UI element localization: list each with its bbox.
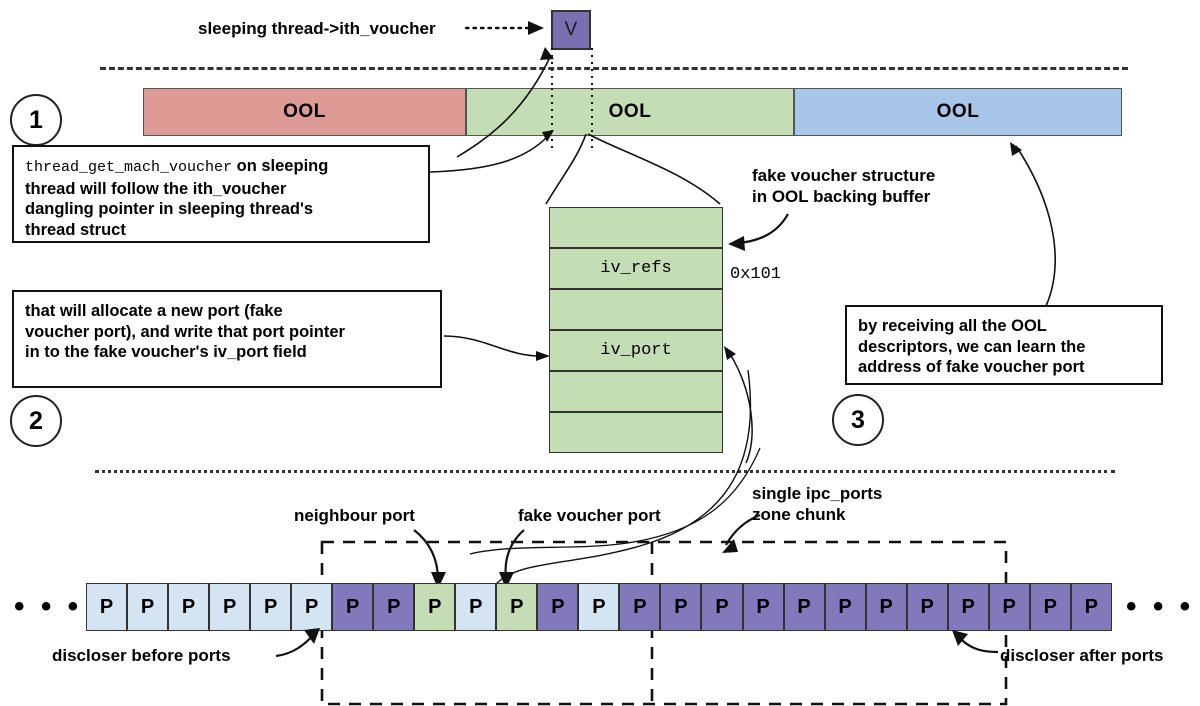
port-cell-label: P	[264, 596, 277, 619]
ool-bar-blue: OOL	[794, 88, 1122, 136]
port-cell-label: P	[100, 596, 113, 619]
port-cell[interactable]: P	[127, 583, 168, 631]
port-cell-label: P	[879, 596, 892, 619]
voucher-row-iv-port: iv_port	[549, 330, 723, 371]
voucher-v-label: V	[565, 19, 578, 41]
callout-1-line1-rest: on sleeping	[232, 157, 328, 175]
port-cell[interactable]: P	[660, 583, 701, 631]
discloser-after-ports-label: discloser after ports	[1000, 645, 1163, 666]
port-cell-neighbour[interactable]: P	[414, 583, 455, 631]
port-cell-label: P	[962, 596, 975, 619]
port-cell[interactable]: P	[866, 583, 907, 631]
callout-2-arrow	[444, 330, 554, 366]
voucher-v-box: V	[551, 10, 591, 50]
port-cell-label: P	[1044, 596, 1057, 619]
step-1-number: 1	[29, 106, 43, 135]
callout-3-line2: descriptors, we can learn the	[858, 337, 1150, 358]
port-cell-label: P	[592, 596, 605, 619]
port-cell-label: P	[551, 596, 564, 619]
port-cell[interactable]: P	[578, 583, 619, 631]
callout-1-line2: thread will follow the ith_voucher	[25, 179, 417, 200]
callout-2-box: that will allocate a new port (fake vouc…	[12, 290, 442, 388]
port-cell-label: P	[305, 596, 318, 619]
single-ipc-ports-line1: single ipc_ports	[752, 483, 882, 504]
port-cell-label: P	[838, 596, 851, 619]
v-box-incoming-arrow	[455, 45, 565, 160]
iv-port-upward-arrow	[724, 340, 764, 465]
ool-bar-green-label: OOL	[609, 101, 652, 123]
top-dashed-divider	[100, 67, 1128, 70]
callout-2-line1: that will allocate a new port (fake	[25, 301, 429, 322]
ool-bar-blue-label: OOL	[937, 101, 980, 123]
port-cell-label: P	[141, 596, 154, 619]
port-cell[interactable]: P	[373, 583, 414, 631]
single-ipc-ports-label: single ipc_ports zone chunk	[752, 483, 882, 525]
port-cell[interactable]: P	[291, 583, 332, 631]
port-cell[interactable]: P	[209, 583, 250, 631]
callout-3-box: by receiving all the OOL descriptors, we…	[845, 305, 1163, 385]
voucher-row-1-label: iv_refs	[600, 259, 671, 278]
port-cell[interactable]: P	[743, 583, 784, 631]
voucher-struct-origin-arrow	[586, 132, 736, 208]
fake-voucher-structure-arrow	[726, 212, 796, 252]
port-cell-fake-voucher[interactable]: P	[496, 583, 537, 631]
callout-2-line2: voucher port), and write that port point…	[25, 322, 429, 343]
port-cell[interactable]: P	[948, 583, 989, 631]
voucher-row-iv-refs: iv_refs	[549, 248, 723, 289]
ith-voucher-pointer-label: sleeping thread->ith_voucher	[198, 18, 436, 39]
ool-bar-red: OOL	[143, 88, 466, 136]
fake-voucher-structure-line1: fake voucher structure	[752, 165, 935, 186]
ool-bar-red-label: OOL	[283, 101, 326, 123]
port-cell-label: P	[674, 596, 687, 619]
port-cell[interactable]: P	[619, 583, 660, 631]
port-cell-label: P	[1085, 596, 1098, 619]
callout-1-line4: thread struct	[25, 220, 417, 241]
callout-1-line3: dangling pointer in sleeping thread's	[25, 199, 417, 220]
port-cell-label: P	[797, 596, 810, 619]
port-cell-label: P	[715, 596, 728, 619]
port-cell[interactable]: P	[907, 583, 948, 631]
callout-2-line3: in to the fake voucher's iv_port field	[25, 342, 429, 363]
fake-voucher-structure-label: fake voucher structure in OOL backing bu…	[752, 165, 935, 207]
ith-voucher-dotted-arrow	[466, 14, 556, 44]
port-cell[interactable]: P	[1030, 583, 1071, 631]
step-2-badge: 2	[10, 395, 62, 447]
port-cell[interactable]: P	[168, 583, 209, 631]
port-cell[interactable]: P	[825, 583, 866, 631]
port-cell[interactable]: P	[455, 583, 496, 631]
discloser-before-ports-label: discloser before ports	[52, 645, 231, 666]
fake-voucher-structure-line2: in OOL backing buffer	[752, 186, 935, 207]
port-cell[interactable]: P	[332, 583, 373, 631]
callout-1-code: thread_get_mach_voucher	[25, 159, 232, 176]
discloser-before-arrow	[276, 628, 326, 664]
port-cell-label: P	[469, 596, 482, 619]
port-cell-label: P	[510, 596, 523, 619]
port-cell-label: P	[920, 596, 933, 619]
port-cell[interactable]: P	[537, 583, 578, 631]
single-ipc-ports-line2: zone chunk	[752, 504, 882, 525]
port-cell[interactable]: P	[701, 583, 742, 631]
step-3-number: 3	[851, 406, 865, 435]
port-cell-label: P	[428, 596, 441, 619]
port-cell-label: P	[182, 596, 195, 619]
port-row: P P P P P P P P P P P P P P P P P P P P …	[86, 583, 1112, 631]
callout-3-line1: by receiving all the OOL	[858, 316, 1150, 337]
voucher-row-3-label: iv_port	[600, 341, 671, 360]
port-cell-label: P	[1003, 596, 1016, 619]
callout-3-line3: address of fake voucher port	[858, 357, 1150, 378]
voucher-row-0	[549, 207, 723, 248]
port-cell-label: P	[387, 596, 400, 619]
port-cell[interactable]: P	[784, 583, 825, 631]
step-1-badge: 1	[10, 94, 62, 146]
step-3-badge: 3	[832, 394, 884, 446]
port-cell-label: P	[756, 596, 769, 619]
discloser-after-arrow	[940, 630, 1002, 662]
step-2-number: 2	[29, 407, 43, 436]
port-cell-label: P	[346, 596, 359, 619]
port-cell-label: P	[223, 596, 236, 619]
callout-3-arrow	[1000, 140, 1070, 308]
port-cell[interactable]: P	[250, 583, 291, 631]
iv-refs-value: 0x101	[730, 265, 781, 284]
port-cell[interactable]: P	[1071, 583, 1112, 631]
neighbour-port-label: neighbour port	[294, 505, 415, 526]
port-cell-label: P	[633, 596, 646, 619]
port-row-right-ellipsis: • • •	[1126, 590, 1194, 624]
port-cell[interactable]: P	[86, 583, 127, 631]
callout-1-box: thread_get_mach_voucher on sleeping thre…	[12, 145, 430, 243]
port-row-left-ellipsis: • • •	[14, 590, 82, 624]
port-cell[interactable]: P	[989, 583, 1030, 631]
voucher-row-2	[549, 289, 723, 330]
